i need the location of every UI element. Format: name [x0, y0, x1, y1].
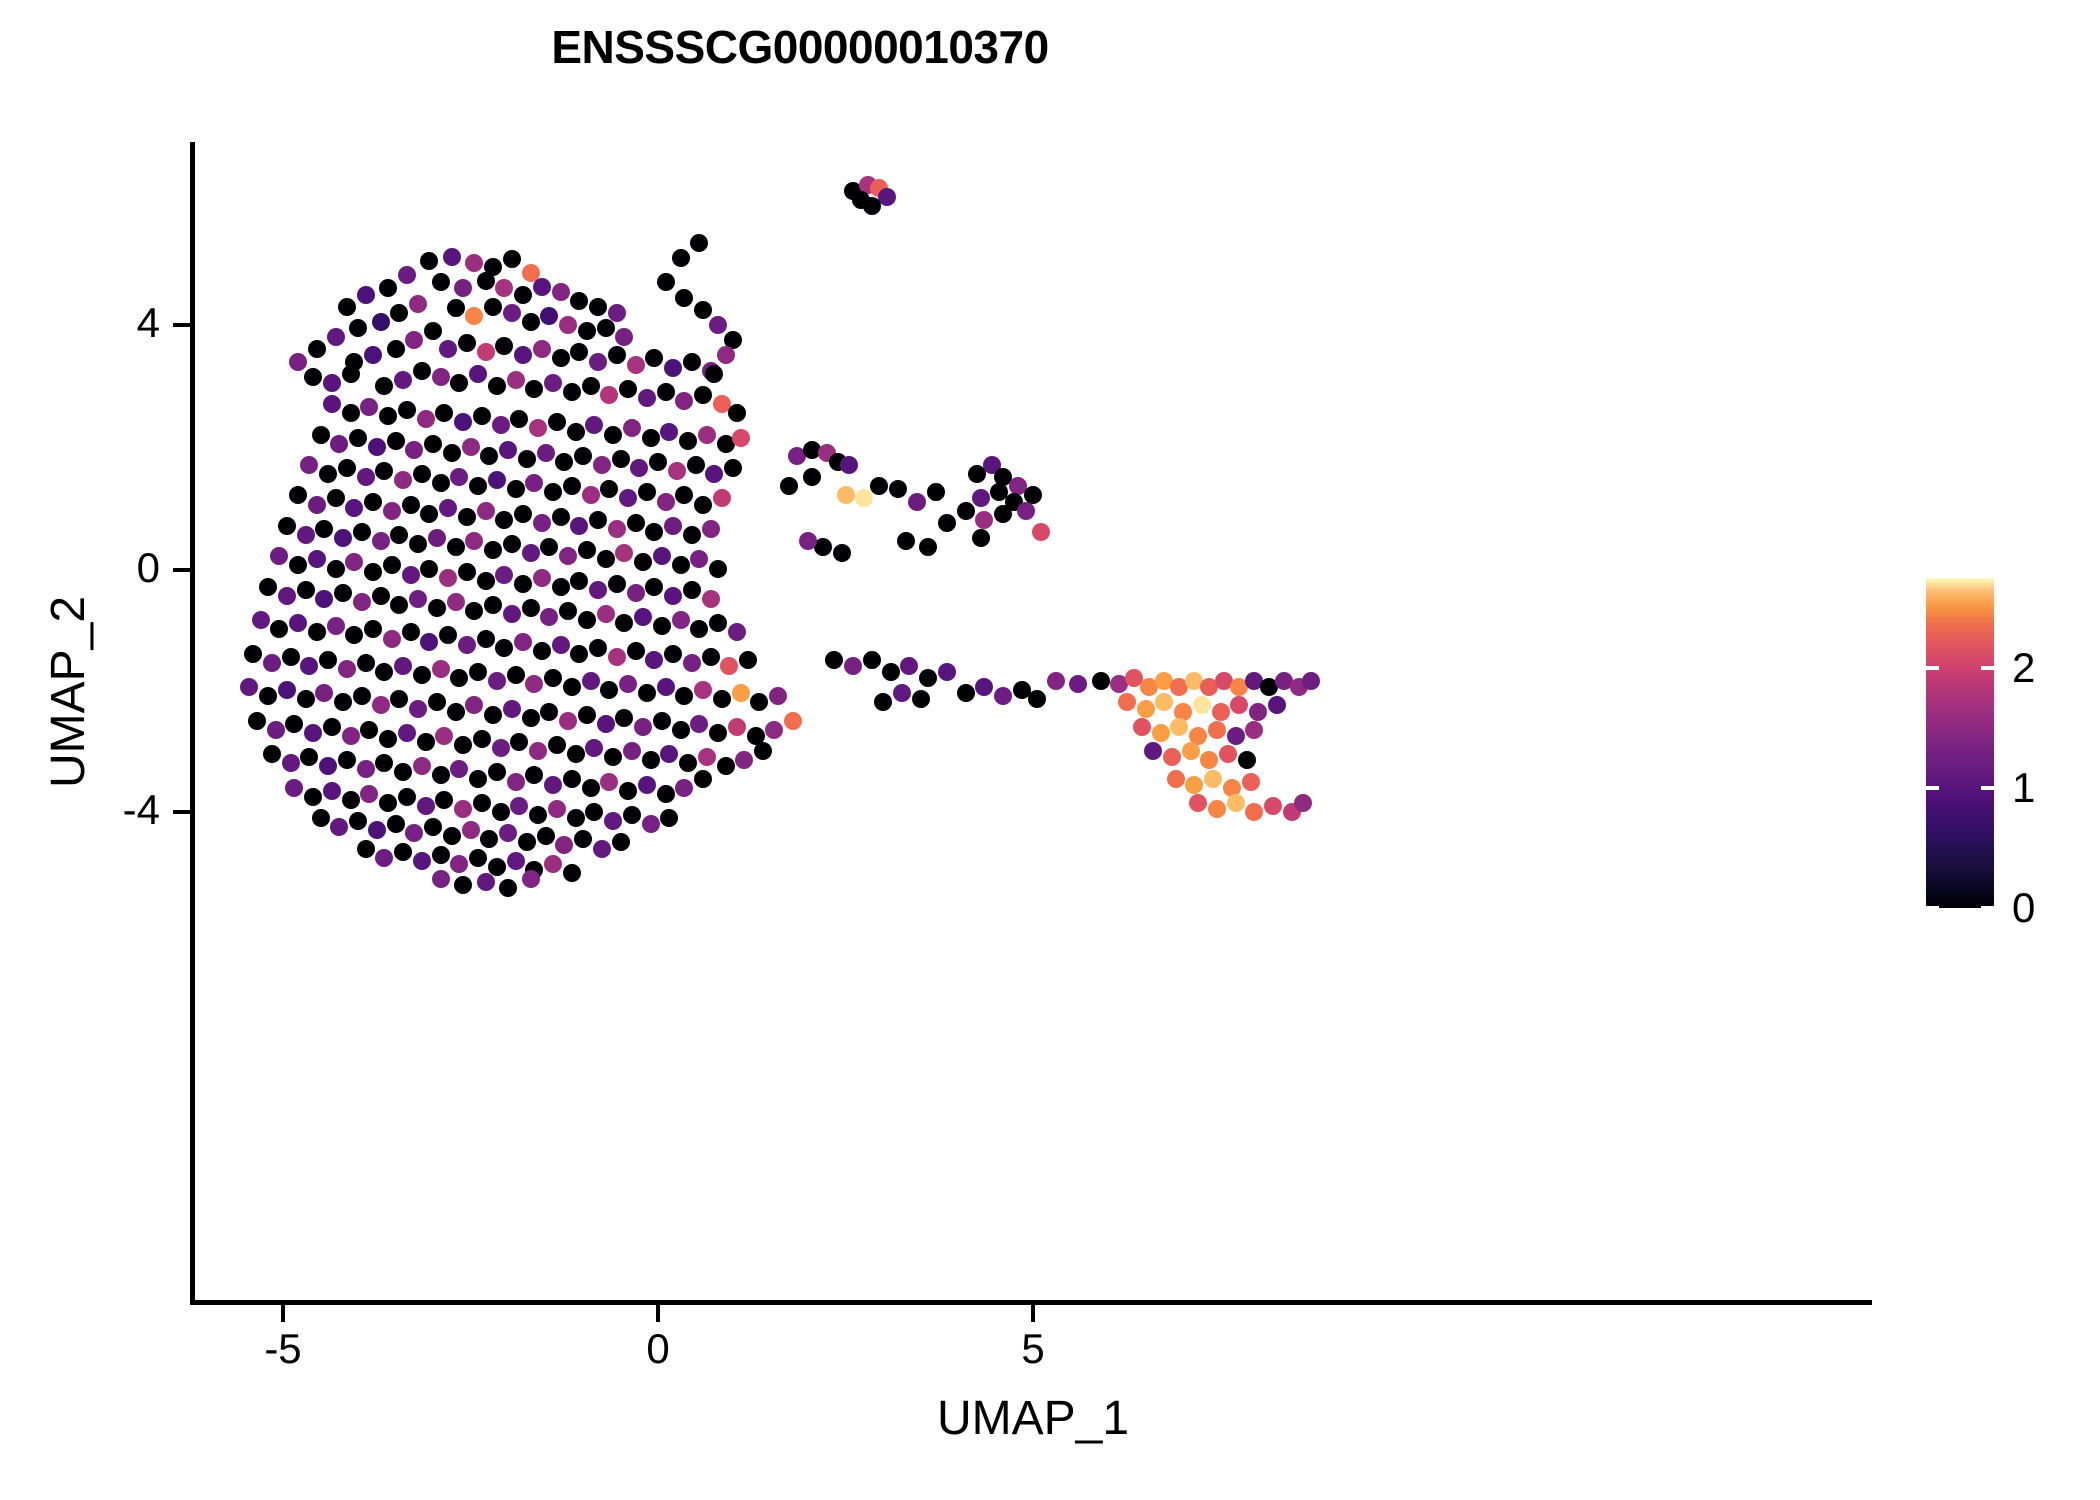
y-tick-mark	[173, 810, 190, 814]
scatter-point	[323, 395, 341, 413]
scatter-point	[619, 489, 637, 507]
scatter-point	[420, 252, 438, 270]
scatter-point	[522, 599, 540, 617]
scatter-point	[405, 331, 423, 349]
scatter-point	[694, 681, 712, 699]
scatter-point	[582, 779, 600, 797]
scatter-point	[657, 383, 675, 401]
scatter-point	[390, 304, 408, 322]
scatter-point	[552, 508, 570, 526]
scatter-point	[379, 279, 397, 297]
scatter-point	[582, 672, 600, 690]
scatter-point	[398, 724, 416, 742]
scatter-point	[443, 444, 461, 462]
x-axis-title: UMAP_1	[194, 1395, 1872, 1443]
scatter-point	[454, 413, 472, 431]
scatter-point	[938, 663, 956, 681]
scatter-point	[465, 696, 483, 714]
scatter-point	[585, 803, 603, 821]
scatter-point	[694, 386, 712, 404]
scatter-point	[477, 272, 495, 290]
scatter-point	[469, 770, 487, 788]
scatter-point	[364, 620, 382, 638]
scatter-point	[529, 742, 547, 760]
scatter-point	[338, 751, 356, 769]
scatter-point	[660, 745, 678, 763]
scatter-point	[454, 876, 472, 894]
scatter-point	[533, 642, 551, 660]
scatter-point	[623, 742, 641, 760]
scatter-point	[975, 511, 993, 529]
scatter-point	[510, 797, 528, 815]
scatter-point	[1204, 770, 1222, 788]
scatter-point	[675, 392, 693, 410]
scatter-point	[312, 426, 330, 444]
scatter-point	[330, 435, 348, 453]
scatter-point	[405, 441, 423, 459]
scatter-point	[447, 593, 465, 611]
scatter-point	[900, 657, 918, 675]
scatter-point	[544, 483, 562, 501]
scatter-point	[717, 757, 735, 775]
scatter-point	[615, 614, 633, 632]
scatter-point	[334, 584, 352, 602]
scatter-point	[424, 818, 442, 836]
scatter-point	[589, 581, 607, 599]
umap-feature-plot: ENSSSCG00000010370 -505 40-4 UMAP_1 UMAP…	[0, 0, 2100, 1500]
scatter-point	[540, 307, 558, 325]
scatter-point	[394, 371, 412, 389]
scatter-point	[559, 712, 577, 730]
scatter-point	[882, 663, 900, 681]
scatter-point	[623, 419, 641, 437]
scatter-point	[503, 700, 521, 718]
scatter-point	[874, 693, 892, 711]
scatter-point	[563, 770, 581, 788]
scatter-point	[552, 349, 570, 367]
scatter-point	[713, 690, 731, 708]
colorbar-tick-mark	[1981, 786, 1994, 790]
colorbar-gradient	[1926, 578, 1994, 908]
scatter-point	[544, 669, 562, 687]
scatter-point	[623, 806, 641, 824]
scatter-point	[379, 794, 397, 812]
scatter-point	[338, 660, 356, 678]
scatter-point	[1227, 727, 1245, 745]
scatter-point	[638, 776, 656, 794]
scatter-point	[300, 657, 318, 675]
scatter-point	[417, 410, 435, 428]
scatter-point	[360, 785, 378, 803]
scatter-point	[537, 444, 555, 462]
scatter-point	[420, 505, 438, 523]
scatter-point	[1118, 693, 1136, 711]
scatter-point	[544, 855, 562, 873]
scatter-point	[563, 678, 581, 696]
scatter-point	[589, 298, 607, 316]
scatter-point	[533, 569, 551, 587]
scatter-point	[619, 782, 637, 800]
scatter-point	[825, 651, 843, 669]
scatter-point	[432, 368, 450, 386]
scatter-point	[600, 773, 618, 791]
scatter-point	[428, 693, 446, 711]
scatter-point	[469, 365, 487, 383]
scatter-point	[1167, 770, 1185, 788]
colorbar-tick-label: 1	[2012, 767, 2035, 809]
scatter-point	[368, 438, 386, 456]
scatter-point	[510, 733, 528, 751]
scatter-point	[375, 754, 393, 772]
scatter-point	[589, 639, 607, 657]
scatter-point	[447, 538, 465, 556]
scatter-point	[285, 779, 303, 797]
scatter-point	[364, 346, 382, 364]
scatter-point	[1212, 703, 1230, 721]
scatter-point	[424, 322, 442, 340]
scatter-point	[248, 712, 266, 730]
scatter-point	[364, 493, 382, 511]
scatter-point	[319, 465, 337, 483]
scatter-point	[619, 380, 637, 398]
scatter-point	[447, 703, 465, 721]
scatter-point	[477, 502, 495, 520]
colorbar-tick-label: 2	[2012, 647, 2035, 689]
scatter-point	[342, 404, 360, 422]
scatter-point	[533, 278, 551, 296]
scatter-point	[657, 493, 675, 511]
scatter-point	[473, 730, 491, 748]
scatter-point	[278, 681, 296, 699]
scatter-point	[454, 800, 472, 818]
scatter-point	[994, 505, 1012, 523]
scatter-point	[1069, 675, 1087, 693]
scatter-point	[319, 757, 337, 775]
scatter-point	[465, 307, 483, 325]
scatter-point	[1227, 794, 1245, 812]
scatter-point	[349, 429, 367, 447]
scatter-point	[675, 687, 693, 705]
scatter-point	[417, 733, 435, 751]
scatter-point	[435, 727, 453, 745]
scatter-point	[803, 468, 821, 486]
scatter-point	[488, 471, 506, 489]
scatter-point	[375, 462, 393, 480]
scatter-point	[458, 334, 476, 352]
scatter-point	[582, 486, 600, 504]
y-axis-title: UMAP_2	[45, 342, 93, 1042]
scatter-point	[709, 614, 727, 632]
scatter-point	[600, 386, 618, 404]
scatter-point	[503, 535, 521, 553]
scatter-points-layer	[194, 142, 1872, 1302]
scatter-point	[889, 480, 907, 498]
scatter-point	[522, 870, 540, 888]
scatter-point	[582, 377, 600, 395]
scatter-point	[1238, 751, 1256, 769]
scatter-point	[679, 432, 697, 450]
scatter-point	[615, 544, 633, 562]
scatter-point	[525, 380, 543, 398]
scatter-point	[679, 754, 697, 772]
scatter-point	[443, 827, 461, 845]
scatter-point	[1264, 797, 1282, 815]
scatter-point	[263, 745, 281, 763]
scatter-point	[289, 486, 307, 504]
scatter-point	[282, 754, 300, 772]
y-tick-label: 4	[0, 301, 160, 345]
scatter-point	[570, 517, 588, 535]
scatter-point	[642, 429, 660, 447]
scatter-point	[349, 812, 367, 830]
colorbar-tick-mark	[1981, 906, 1994, 910]
scatter-point	[345, 626, 363, 644]
scatter-point	[413, 465, 431, 483]
scatter-point	[402, 623, 420, 641]
scatter-point	[312, 809, 330, 827]
scatter-point	[1152, 724, 1170, 742]
scatter-point	[525, 675, 543, 693]
scatter-point	[495, 337, 513, 355]
scatter-point	[540, 538, 558, 556]
scatter-point	[458, 563, 476, 581]
scatter-point	[567, 745, 585, 763]
scatter-point	[690, 620, 708, 638]
scatter-point	[529, 806, 547, 824]
scatter-point	[450, 374, 468, 392]
scatter-point	[837, 486, 855, 504]
scatter-point	[300, 456, 318, 474]
scatter-point	[308, 340, 326, 358]
scatter-point	[698, 426, 716, 444]
scatter-point	[972, 489, 990, 507]
scatter-point	[357, 760, 375, 778]
scatter-point	[897, 532, 915, 550]
scatter-point	[972, 529, 990, 547]
scatter-point	[417, 797, 435, 815]
scatter-point	[750, 693, 768, 711]
scatter-point	[514, 505, 532, 523]
scatter-point	[683, 526, 701, 544]
scatter-point	[315, 684, 333, 702]
scatter-point	[672, 721, 690, 739]
scatter-point	[420, 560, 438, 578]
scatter-point	[488, 763, 506, 781]
scatter-point	[428, 599, 446, 617]
scatter-point	[518, 450, 536, 468]
scatter-point	[694, 770, 712, 788]
scatter-point	[570, 343, 588, 361]
scatter-point	[1208, 800, 1226, 818]
scatter-point	[454, 736, 472, 754]
scatter-point	[435, 791, 453, 809]
scatter-point	[567, 809, 585, 827]
scatter-point	[357, 840, 375, 858]
scatter-point	[372, 587, 390, 605]
scatter-point	[604, 426, 622, 444]
scatter-point	[690, 715, 708, 733]
scatter-point	[315, 590, 333, 608]
scatter-point	[840, 456, 858, 474]
x-tick-label: 0	[568, 1327, 748, 1371]
scatter-point	[484, 541, 502, 559]
scatter-point	[372, 313, 390, 331]
scatter-point	[645, 523, 663, 541]
scatter-point	[720, 657, 738, 675]
scatter-point	[323, 718, 341, 736]
scatter-point	[540, 703, 558, 721]
scatter-point	[413, 757, 431, 775]
scatter-point	[1249, 703, 1267, 721]
scatter-point	[507, 852, 525, 870]
scatter-point	[690, 550, 708, 568]
scatter-point	[327, 560, 345, 578]
scatter-point	[642, 815, 660, 833]
colorbar-tick-mark	[1926, 786, 1939, 790]
scatter-point	[645, 651, 663, 669]
scatter-point	[608, 648, 626, 666]
scatter-point	[409, 590, 427, 608]
scatter-point	[589, 353, 607, 371]
scatter-point	[327, 328, 345, 346]
scatter-point	[267, 721, 285, 739]
scatter-point	[863, 651, 881, 669]
scatter-point	[563, 477, 581, 495]
scatter-point	[619, 675, 637, 693]
scatter-point	[413, 666, 431, 684]
scatter-point	[514, 286, 532, 304]
scatter-point	[432, 870, 450, 888]
scatter-point	[308, 550, 326, 568]
y-axis-title-wrapper: UMAP_2	[45, 342, 105, 1042]
scatter-point	[1230, 696, 1248, 714]
scatter-point	[705, 465, 723, 483]
scatter-point	[514, 575, 532, 593]
scatter-point	[559, 602, 577, 620]
scatter-point	[259, 578, 277, 596]
scatter-point	[507, 773, 525, 791]
scatter-point	[492, 416, 510, 434]
scatter-point	[1047, 672, 1065, 690]
scatter-point	[270, 620, 288, 638]
scatter-point	[927, 483, 945, 501]
scatter-point	[919, 538, 937, 556]
scatter-point	[507, 480, 525, 498]
scatter-point	[919, 669, 937, 687]
scatter-point	[833, 544, 851, 562]
scatter-point	[465, 254, 483, 272]
scatter-point	[548, 413, 566, 431]
scatter-point	[709, 724, 727, 742]
scatter-point	[510, 410, 528, 428]
scatter-point	[687, 456, 705, 474]
scatter-point	[477, 873, 495, 891]
scatter-point	[765, 721, 783, 739]
scatter-point	[375, 663, 393, 681]
scatter-point	[398, 788, 416, 806]
scatter-point	[495, 511, 513, 529]
scatter-point	[447, 299, 465, 317]
scatter-point	[345, 499, 363, 517]
scatter-point	[450, 760, 468, 778]
x-tick-mark	[1031, 1305, 1035, 1322]
colorbar-tick-mark	[1981, 666, 1994, 670]
scatter-point	[653, 617, 671, 635]
scatter-point	[477, 572, 495, 590]
scatter-point	[398, 266, 416, 284]
scatter-point	[507, 666, 525, 684]
scatter-point	[664, 645, 682, 663]
scatter-point	[499, 441, 517, 459]
page-title: ENSSSCG00000010370	[0, 24, 1600, 70]
scatter-point	[552, 636, 570, 654]
scatter-point	[552, 283, 570, 301]
scatter-point	[529, 419, 547, 437]
scatter-point	[668, 462, 686, 480]
scatter-point	[600, 480, 618, 498]
scatter-point	[345, 553, 363, 571]
scatter-point	[559, 316, 577, 334]
scatter-point	[297, 526, 315, 544]
scatter-point	[604, 812, 622, 830]
scatter-point	[1302, 672, 1320, 690]
scatter-point	[409, 535, 427, 553]
scatter-point	[334, 693, 352, 711]
scatter-point	[443, 248, 461, 266]
scatter-point	[578, 706, 596, 724]
scatter-point	[634, 608, 652, 626]
scatter-point	[327, 489, 345, 507]
scatter-point	[908, 493, 926, 511]
scatter-point	[503, 304, 521, 322]
scatter-point	[465, 602, 483, 620]
scatter-point	[612, 450, 630, 468]
y-tick-mark	[173, 323, 190, 327]
scatter-point	[330, 818, 348, 836]
scatter-point	[589, 511, 607, 529]
scatter-point	[308, 623, 326, 641]
scatter-point	[627, 356, 645, 374]
scatter-point	[548, 736, 566, 754]
scatter-point	[645, 578, 663, 596]
scatter-point	[372, 696, 390, 714]
colorbar-tick-label: 0	[2012, 887, 2035, 929]
scatter-point	[432, 766, 450, 784]
scatter-point	[473, 794, 491, 812]
scatter-point	[353, 687, 371, 705]
scatter-point	[533, 514, 551, 532]
colorbar-tick-mark	[1926, 906, 1939, 910]
scatter-point	[387, 815, 405, 833]
scatter-point	[304, 724, 322, 742]
scatter-point	[477, 343, 495, 361]
scatter-point	[503, 250, 521, 268]
scatter-point	[488, 672, 506, 690]
scatter-point	[334, 529, 352, 547]
scatter-point	[278, 587, 296, 605]
scatter-point	[548, 800, 566, 818]
scatter-point	[368, 821, 386, 839]
scatter-point	[615, 328, 633, 346]
scatter-point	[533, 340, 551, 358]
scatter-point	[1133, 718, 1151, 736]
scatter-point	[484, 298, 502, 316]
scatter-point	[450, 468, 468, 486]
scatter-point	[570, 645, 588, 663]
scatter-point	[462, 821, 480, 839]
scatter-point	[567, 423, 585, 441]
scatter-point	[338, 459, 356, 477]
